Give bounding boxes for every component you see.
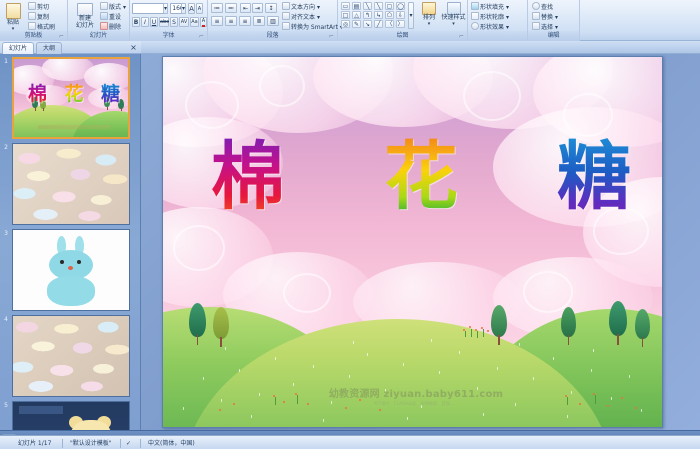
slide-title[interactable]: 棉 花 糖	[211, 135, 631, 219]
shape-fill-button[interactable]: 形状填充 ▾	[471, 2, 509, 11]
smartart-label: 转换为 SmartArt	[291, 24, 338, 31]
new-slide-button[interactable]: 新建 幻灯片	[72, 2, 98, 29]
layout-label: 版式	[109, 4, 121, 11]
font-color-button[interactable]: A	[200, 17, 207, 27]
layout-icon	[100, 2, 108, 10]
shape-outline-button[interactable]: 形状轮廓 ▾	[471, 12, 509, 21]
align-text-icon	[282, 12, 290, 20]
watermark-main-text: 幼教资源网 ziyuan.baby611.com	[291, 385, 541, 400]
format-painter-label: 格式刷	[37, 24, 55, 31]
shrink-font-button[interactable]: A	[196, 3, 203, 14]
shape-chevron[interactable]: ╱	[374, 20, 383, 28]
shape-effects-label: 形状效果	[480, 24, 504, 31]
char-space-label: AV	[181, 19, 188, 25]
thumb-number: 5	[2, 402, 10, 409]
arrange-arrow[interactable]: ▾	[417, 22, 441, 28]
slide-thumbnail-panel[interactable]: 1 棉 花 糖	[0, 54, 141, 430]
group-label-clipboard: 剪贴板	[0, 31, 67, 41]
align-text-button[interactable]: 对齐文本 ▾	[282, 12, 320, 21]
new-slide-label-2: 幻灯片	[72, 23, 98, 30]
shape-fill-icon	[471, 2, 479, 10]
text-shadow-button[interactable]: S	[170, 17, 178, 27]
shape-pentagon[interactable]: ⬠	[385, 11, 394, 19]
shape-outline-icon	[471, 12, 479, 20]
smartart-icon	[282, 22, 290, 30]
convert-to-smartart-button[interactable]: 转换为 SmartArt ▾	[282, 22, 343, 31]
underline-button[interactable]: U	[150, 17, 158, 27]
thumb-title-char-3: 糖	[101, 83, 120, 105]
shape-connector[interactable]: ↳	[374, 11, 383, 19]
italic-label: I	[144, 19, 146, 26]
copy-button[interactable]: 复制	[28, 12, 49, 21]
shapes-more-arrow[interactable]: ▾	[408, 2, 414, 29]
ribbon-group-paragraph: ≔ ≕ ⇤ ⇥ ↕ 文本方向 ▾ 对齐文本 ▾ 转换为 SmartArt ▾ ≡…	[208, 0, 338, 41]
format-painter-icon	[28, 22, 36, 30]
strikethrough-button[interactable]: abc	[159, 17, 169, 27]
font-color-swatch	[202, 25, 205, 27]
bullet-list-icon[interactable]: ≔	[211, 3, 223, 13]
layout-button[interactable]: 版式 ▾	[100, 2, 126, 11]
paste-button[interactable]: 粘贴 ▾	[2, 2, 24, 32]
shape-rectangle[interactable]: ▭	[341, 2, 350, 10]
arrange-button[interactable]: 排列 ▾	[417, 1, 441, 27]
text-direction-label: 文本方向	[291, 4, 315, 11]
shape-line[interactable]: ╲	[363, 2, 372, 10]
title-char-2: 花	[384, 135, 458, 219]
increase-indent-icon[interactable]: ⇥	[252, 3, 263, 13]
shape-square[interactable]: □	[341, 11, 350, 19]
language-indicator[interactable]: 中文(简体，中国)	[148, 436, 195, 449]
close-icon: ×	[130, 43, 137, 52]
ribbon-group-clipboard: 粘贴 ▾ 剪切 复制 格式刷 剪贴板 ⌐	[0, 0, 68, 41]
slide-counter: 幻灯片 1/17	[18, 436, 51, 449]
ribbon-group-editing: 查找 替换 ▾ 选择 ▾ 编辑	[528, 0, 580, 41]
tab-outline[interactable]: 大纲	[36, 42, 62, 54]
cut-button[interactable]: 剪切	[28, 2, 49, 11]
drawing-dialog-launcher[interactable]: ⌐	[458, 33, 465, 40]
select-icon	[532, 22, 540, 30]
spell-check-icon[interactable]: ✓	[126, 436, 131, 449]
shape-curve[interactable]: ↰	[363, 11, 372, 19]
quick-styles-arrow[interactable]: ▾	[441, 22, 466, 28]
bold-label: B	[134, 19, 139, 26]
grow-font-button[interactable]: A	[188, 3, 195, 14]
text-direction-button[interactable]: 文本方向 ▾	[282, 2, 320, 11]
list-item[interactable]: 4	[0, 314, 141, 398]
replace-button[interactable]: 替换 ▾	[532, 12, 558, 21]
design-template-name[interactable]: "默认设计模板"	[70, 436, 112, 449]
clipboard-dialog-launcher[interactable]: ⌐	[58, 33, 65, 40]
paragraph-dialog-launcher[interactable]: ⌐	[328, 33, 335, 40]
watermark: 幼教资源网 ziyuan.baby611.com PPT课件、FLASH动画、视…	[291, 385, 541, 407]
shape-elbow[interactable]: ↘	[363, 20, 372, 28]
line-spacing-icon[interactable]: ↕	[265, 3, 277, 13]
shape-oval[interactable]: ◯	[396, 2, 405, 10]
decrease-indent-icon[interactable]: ⇤	[240, 3, 251, 13]
group-label-slides: 幻灯片	[68, 31, 129, 41]
scissors-icon	[28, 2, 36, 10]
left-pane-tabstrip: 幻灯片 大纲 ×	[0, 41, 141, 54]
bold-button[interactable]: B	[132, 17, 140, 27]
shape-effects-button[interactable]: 形状效果 ▾	[471, 22, 509, 31]
current-slide[interactable]: 棉 花 糖 幼教资源网 ziyuan.baby611.com PPT课件、FLA…	[162, 56, 663, 428]
group-label-paragraph: 段落	[208, 31, 337, 41]
shape-fill-arrow[interactable]: ▾	[506, 4, 509, 11]
watermark-sub-text: PPT课件、FLASH动画、视频教案、音频……	[291, 401, 541, 407]
group-label-drawing: 绘图	[338, 31, 467, 41]
list-item[interactable]: 3	[0, 228, 141, 312]
numbered-list-icon[interactable]: ≕	[225, 3, 237, 13]
thumbnail-slide-2[interactable]	[12, 143, 130, 225]
justify-icon[interactable]: ≣	[253, 16, 265, 26]
align-text-arrow[interactable]: ▾	[317, 14, 320, 21]
font-dialog-launcher[interactable]: ⌐	[198, 33, 205, 40]
thumb-number: 4	[2, 316, 10, 323]
text-direction-arrow[interactable]: ▾	[317, 4, 320, 11]
tab-slides-label: 幻灯片	[9, 45, 27, 52]
shape-textbox[interactable]: ▤	[352, 2, 361, 10]
list-item[interactable]: 5	[0, 400, 141, 430]
shape-effects-icon	[471, 22, 479, 30]
group-label-font: 字体	[130, 31, 207, 41]
quick-styles-button[interactable]: 快速样式 ▾	[441, 1, 466, 27]
grow-font-label: A	[189, 5, 194, 13]
character-spacing-button[interactable]: AV	[179, 17, 189, 27]
font-name-arrow[interactable]: ▾	[163, 3, 168, 14]
italic-button[interactable]: I	[141, 17, 149, 27]
reset-button[interactable]: 重设	[100, 12, 121, 21]
status-bar: 幻灯片 1/17 "默认设计模板" ✓ 中文(简体，中国)	[0, 430, 700, 449]
font-color-label: A	[202, 18, 205, 24]
font-size-arrow[interactable]: ▾	[181, 3, 186, 14]
powerpoint-window: 粘贴 ▾ 剪切 复制 格式刷 剪贴板 ⌐ 新建	[0, 0, 700, 449]
status-bar-inner: 幻灯片 1/17 "默认设计模板" ✓ 中文(简体，中国)	[0, 435, 700, 449]
tab-slides[interactable]: 幻灯片	[2, 42, 34, 54]
shrink-font-label: A	[198, 6, 201, 12]
shape-triangle[interactable]: △	[352, 11, 361, 19]
ribbon-group-font: ▾ 166 ▾ A A B I U	[130, 0, 208, 41]
marshmallow-photo	[13, 316, 129, 396]
thumb-number: 3	[2, 230, 10, 237]
close-pane-button[interactable]: ×	[129, 43, 138, 52]
slide-editing-stage[interactable]: 棉 花 糖 幼教资源网 ziyuan.baby611.com PPT课件、FLA…	[141, 54, 700, 430]
find-button[interactable]: 查找	[532, 2, 553, 11]
shape-rounded-rect[interactable]: ▢	[385, 2, 394, 10]
select-label: 选择	[541, 24, 553, 31]
copy-label: 复制	[37, 14, 49, 21]
copy-icon	[28, 12, 36, 20]
align-right-icon[interactable]: ≡	[239, 16, 251, 26]
cut-label: 剪切	[37, 4, 49, 11]
align-center-icon[interactable]: ≡	[225, 16, 237, 26]
columns-icon[interactable]: ▥	[267, 16, 279, 26]
shape-arrow-down[interactable]: ⇩	[396, 11, 405, 19]
replace-icon	[532, 12, 540, 20]
align-left-icon[interactable]: ≡	[211, 16, 223, 26]
shape-outline-arrow[interactable]: ▾	[506, 14, 509, 21]
group-label-shape-format	[468, 31, 527, 41]
shapes-gallery[interactable]: ▭ ▤ ╲ ╲ ▢ ◯ □ △ ↰ ↳ ⬠ ⇩ ◎ ✎ ↘ ╱ 〈 〉 ▾	[338, 0, 467, 31]
title-char-3: 糖	[557, 135, 631, 219]
thumbnail-slide-3[interactable]	[12, 229, 130, 311]
grass-speckles	[163, 57, 662, 427]
shape-circle-small[interactable]: ◎	[341, 20, 350, 28]
find-label: 查找	[541, 4, 553, 11]
reset-label: 重设	[109, 14, 121, 21]
underline-label: U	[152, 19, 156, 26]
replace-label: 替换	[541, 14, 553, 21]
change-case-label: Aa	[191, 19, 197, 25]
list-item[interactable]: 2	[0, 142, 141, 226]
select-arrow[interactable]: ▾	[555, 24, 558, 31]
delete-label: 删除	[109, 24, 121, 31]
thumb-number: 1	[2, 58, 10, 65]
shape-fill-label: 形状填充	[480, 4, 504, 11]
select-button[interactable]: 选择 ▾	[532, 22, 558, 31]
format-painter-button[interactable]: 格式刷	[28, 22, 55, 31]
marshmallow-photo	[13, 144, 129, 224]
list-item[interactable]: 1 棉 花 糖	[0, 56, 141, 140]
reset-icon	[100, 12, 108, 20]
group-label-editing: 编辑	[528, 31, 579, 41]
change-case-button[interactable]: Aa	[190, 17, 199, 27]
replace-arrow[interactable]: ▾	[555, 14, 558, 21]
thumbnail-slide-5[interactable]	[12, 401, 130, 430]
thumbnail-slide-4[interactable]	[12, 315, 130, 397]
align-text-label: 对齐文本	[291, 14, 315, 21]
shape-brace-left[interactable]: 〈	[385, 20, 394, 28]
layout-arrow[interactable]: ▾	[123, 4, 126, 11]
ribbon: 粘贴 ▾ 剪切 复制 格式刷 剪贴板 ⌐ 新建	[0, 0, 700, 41]
ribbon-group-drawing: ▭ ▤ ╲ ╲ ▢ ◯ □ △ ↰ ↳ ⬠ ⇩ ◎ ✎ ↘ ╱ 〈 〉 ▾	[338, 0, 468, 41]
shape-freeform[interactable]: ✎	[352, 20, 361, 28]
stage-top-strip	[141, 41, 700, 54]
shape-effects-arrow[interactable]: ▾	[506, 24, 509, 31]
thumb-title-char-1: 棉	[28, 83, 47, 105]
ribbon-group-slides: 新建 幻灯片 版式 ▾ 重设 删除 幻灯片	[68, 0, 130, 41]
clipboard-paste-icon	[6, 3, 21, 19]
thumbnail-slide-1[interactable]: 棉 花 糖	[12, 57, 130, 139]
text-direction-icon	[282, 2, 290, 10]
thumb-title-char-2: 花	[64, 83, 83, 105]
delete-slide-button[interactable]: 删除	[100, 22, 121, 31]
search-icon	[532, 2, 540, 10]
shape-brace-right[interactable]: 〉	[396, 20, 405, 28]
delete-slide-icon	[100, 22, 108, 30]
tab-outline-label: 大纲	[43, 45, 55, 52]
title-char-1: 棉	[211, 135, 285, 219]
ribbon-empty-area	[580, 0, 700, 41]
thumb-number: 2	[2, 144, 10, 151]
shadow-label: S	[172, 19, 176, 26]
shape-outline-label: 形状轮廓	[480, 14, 504, 21]
ribbon-group-shape-format: 形状填充 ▾ 形状轮廓 ▾ 形状效果 ▾	[468, 0, 528, 41]
shape-arrow[interactable]: ╲	[374, 2, 383, 10]
strike-label: abc	[160, 19, 169, 25]
